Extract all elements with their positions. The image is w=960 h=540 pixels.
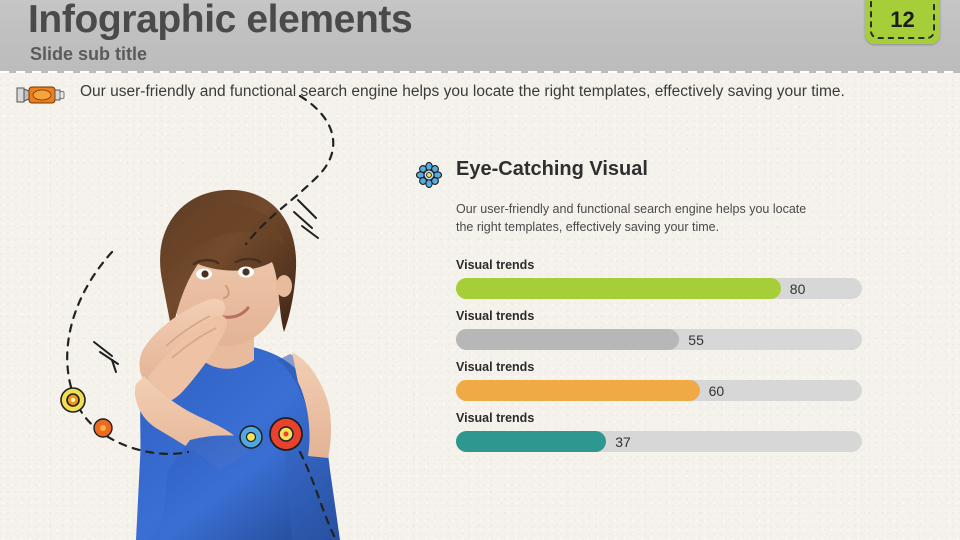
progress-bar-fill	[456, 278, 781, 299]
progress-bar-track[interactable]: 60	[456, 380, 862, 401]
progress-bar-value: 60	[709, 383, 725, 399]
progress-bar-track[interactable]: 55	[456, 329, 862, 350]
page-subtitle: Slide sub title	[30, 44, 147, 65]
content-panel: Eye-Catching Visual Our user-friendly an…	[456, 158, 876, 462]
progress-bar-item: Visual trends 80	[456, 258, 876, 299]
progress-bar-track[interactable]: 80	[456, 278, 862, 299]
progress-bar-value: 37	[615, 434, 631, 450]
intro-banner-text: Our user-friendly and functional search …	[80, 83, 845, 101]
slide-header: Infographic elements Slide sub title	[0, 0, 960, 73]
paint-tube-icon	[16, 85, 68, 105]
content-heading-row: Eye-Catching Visual	[456, 158, 876, 188]
content-body: Our user-friendly and functional search …	[456, 200, 816, 236]
page-title: Infographic elements	[28, 0, 412, 42]
progress-bar-list: Visual trends 80 Visual trends 55 Visual…	[456, 258, 876, 452]
progress-bar-label: Visual trends	[456, 309, 876, 323]
progress-bar-item: Visual trends 60	[456, 360, 876, 401]
slide-number-badge-inner: 12	[870, 0, 935, 39]
progress-bar-label: Visual trends	[456, 411, 876, 425]
content-heading: Eye-Catching Visual	[456, 158, 648, 181]
photo-girl	[40, 140, 400, 540]
progress-bar-fill	[456, 431, 606, 452]
blue-flower-icon	[416, 162, 442, 188]
progress-bar-fill	[456, 329, 679, 350]
progress-bar-label: Visual trends	[456, 360, 876, 374]
progress-bar-label: Visual trends	[456, 258, 876, 272]
slide-number: 12	[890, 7, 914, 33]
photo-girl-illustration	[40, 140, 400, 540]
progress-bar-value: 55	[688, 332, 704, 348]
intro-banner: Our user-friendly and functional search …	[0, 73, 960, 117]
progress-bar-value: 80	[790, 281, 806, 297]
progress-bar-fill	[456, 380, 700, 401]
slide-number-badge: 12	[865, 0, 940, 44]
progress-bar-item: Visual trends 55	[456, 309, 876, 350]
progress-bar-track[interactable]: 37	[456, 431, 862, 452]
slide-canvas: Infographic elements Slide sub title 12 …	[0, 0, 960, 540]
progress-bar-item: Visual trends 37	[456, 411, 876, 452]
